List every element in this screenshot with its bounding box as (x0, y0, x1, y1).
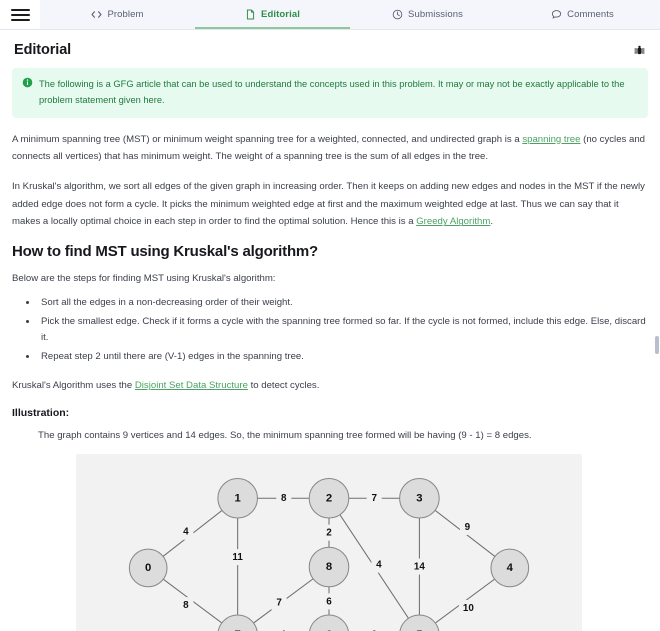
node-label: 0 (145, 562, 151, 574)
edge-weight-3-4: 9 (465, 522, 471, 533)
closing-text-before: Kruskal's Algorithm uses the (12, 380, 135, 391)
top-tab-bar: Problem Editorial Submissions (0, 0, 660, 30)
graph-node-1: 1 (218, 479, 258, 519)
edge-weight-2-3: 7 (371, 493, 377, 504)
hamburger-bar (11, 14, 30, 16)
illustration-heading: Illustration: (12, 407, 648, 419)
graph-node-4: 4 (491, 550, 529, 588)
section-heading-how-to-find-mst: How to find MST using Kruskal's algorith… (12, 243, 648, 260)
disjoint-set-link[interactable]: Disjoint Set Data Structure (135, 380, 248, 391)
edge-weight-1-2: 8 (281, 493, 287, 504)
hamburger-menu-icon[interactable] (0, 0, 40, 29)
paragraph-2-text-after: . (490, 216, 493, 227)
document-icon (245, 9, 256, 20)
edge-weight-2-5: 4 (376, 560, 382, 571)
tab-label: Problem (107, 9, 143, 20)
vertical-scrollbar[interactable] (654, 60, 660, 631)
comment-icon (551, 9, 562, 20)
page-header: Editorial (12, 30, 648, 68)
edge-weight-2-8: 2 (326, 528, 332, 539)
hamburger-bar (11, 19, 30, 21)
edge-weight-6-8: 6 (326, 597, 332, 608)
edge-weight-1-7: 11 (232, 553, 243, 564)
greedy-algorithm-link[interactable]: Greedy Algorithm (416, 216, 490, 227)
edge-weight-4-5: 10 (463, 603, 474, 614)
tab-label: Comments (567, 9, 614, 20)
list-item: Sort all the edges in a non-decreasing o… (38, 295, 648, 312)
paragraph-1-text-before: A minimum spanning tree (MST) or minimum… (12, 134, 522, 145)
graph-node-5: 5 (400, 615, 440, 631)
info-icon (22, 77, 33, 88)
edge-weight-0-7: 8 (183, 601, 189, 612)
tab-comments[interactable]: Comments (505, 0, 660, 29)
paragraph-2-text-before: In Kruskal's algorithm, we sort all edge… (12, 181, 645, 227)
scrollbar-thumb[interactable] (655, 336, 659, 354)
editorial-content: Editorial The following is a GFG articl (0, 30, 660, 631)
tab-editorial[interactable]: Editorial (195, 0, 350, 29)
paragraph-disjoint-set: Kruskal's Algorithm uses the Disjoint Se… (12, 377, 648, 395)
edge-weight-3-5: 14 (414, 562, 425, 573)
closing-text-after: to detect cycles. (248, 380, 319, 391)
list-item: Repeat step 2 until there are (V-1) edge… (38, 349, 648, 366)
spanning-tree-link[interactable]: spanning tree (522, 134, 580, 145)
tab-label: Editorial (261, 9, 300, 20)
note-text: The following is a GFG article that can … (39, 76, 638, 109)
graph-node-8: 8 (309, 548, 349, 588)
graph-node-7: 7 (218, 615, 258, 631)
graph-node-0: 0 (129, 550, 167, 588)
paragraph-mst-definition: A minimum spanning tree (MST) or minimum… (12, 131, 648, 166)
tab-list: Problem Editorial Submissions (40, 0, 660, 29)
node-label: 1 (235, 493, 241, 505)
edge-weight-0-1: 4 (183, 527, 189, 538)
kruskal-steps-list: Sort all the edges in a non-decreasing o… (38, 295, 648, 365)
illustration-description: The graph contains 9 vertices and 14 edg… (38, 427, 648, 444)
bug-icon[interactable] (632, 43, 646, 57)
graph-svg: 4 8 8 11 7 2 4 9 14 10 2 1 6 7 0 (76, 454, 582, 631)
steps-lead-text: Below are the steps for finding MST usin… (12, 270, 648, 287)
edge-weight-7-8: 7 (276, 598, 282, 609)
graph-figure: 4 8 8 11 7 2 4 9 14 10 2 1 6 7 0 (76, 454, 582, 631)
hamburger-bar (11, 9, 30, 11)
graph-node-2: 2 (309, 479, 349, 519)
tab-problem[interactable]: Problem (40, 0, 195, 29)
node-label: 4 (507, 562, 514, 574)
node-label: 3 (416, 493, 422, 505)
code-icon (91, 9, 102, 20)
graph-node-6: 6 (309, 615, 349, 631)
clock-icon (392, 9, 403, 20)
node-label: 2 (326, 493, 332, 505)
page-title: Editorial (14, 42, 71, 58)
node-label: 8 (326, 561, 332, 573)
list-item: Pick the smallest edge. Check if it form… (38, 314, 648, 347)
paragraph-kruskal-greedy: In Kruskal's algorithm, we sort all edge… (12, 178, 648, 231)
tab-submissions[interactable]: Submissions (350, 0, 505, 29)
tab-label: Submissions (408, 9, 463, 20)
gfg-info-note: The following is a GFG article that can … (12, 68, 648, 118)
graph-node-3: 3 (400, 479, 440, 519)
